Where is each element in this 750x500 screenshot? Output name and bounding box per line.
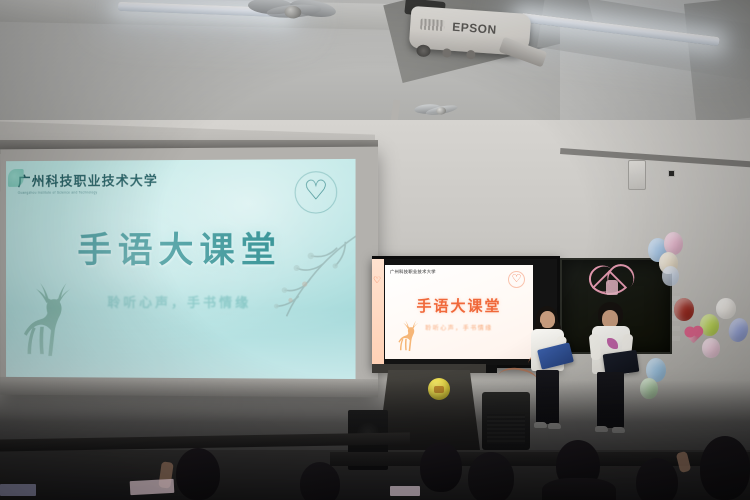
heart-with-hand-sign-icon xyxy=(590,270,630,304)
audience-head xyxy=(700,436,750,500)
heart-outline-icon xyxy=(295,171,338,214)
audience-head xyxy=(420,442,462,492)
tv-slide-institution-name: 广州科技职业技术大学 xyxy=(390,269,436,275)
balloon-red xyxy=(674,298,694,321)
hand-sign-shape xyxy=(606,280,618,295)
classroom-photo-scene: EPSON 广州科技职业技术大学 Guangzhou Institute of … xyxy=(0,0,750,500)
audience-shoulders xyxy=(542,478,616,500)
fan-hub xyxy=(436,107,446,115)
projector-brand-label: EPSON xyxy=(452,20,497,37)
slide-institution-name-en: Guangzhou Institute of Science and Techn… xyxy=(18,190,158,195)
desk-paper xyxy=(390,486,420,496)
balloon-white xyxy=(716,298,736,319)
projected-slide: 广州科技职业技术大学 Guangzhou Institute of Scienc… xyxy=(6,159,355,379)
audience-head xyxy=(176,448,220,500)
slide-institution-logo: 广州科技职业技术大学 Guangzhou Institute of Scienc… xyxy=(18,170,158,195)
heart-outline-icon xyxy=(508,271,525,288)
vent-icon xyxy=(420,19,445,32)
wall-socket-icon xyxy=(668,170,675,177)
audience-head xyxy=(468,452,514,500)
audience-head xyxy=(636,458,678,500)
tv-slide-title: 手语大课堂 xyxy=(385,295,533,316)
university-emblem-icon xyxy=(8,169,24,187)
wall-mounted-speaker xyxy=(628,160,646,190)
desk-paper xyxy=(130,479,175,495)
slide-institution-name-cn: 广州科技职业技术大学 xyxy=(18,170,158,190)
ceiling-edge-right xyxy=(684,0,750,123)
slide-mist-overlay xyxy=(6,308,355,379)
balloon-lightpink xyxy=(702,338,720,358)
desk-paper xyxy=(0,484,36,496)
audience-head xyxy=(300,462,340,500)
projection-screen: 广州科技职业技术大学 Guangzhou Institute of Scienc… xyxy=(0,147,378,398)
deer-silhouette-icon xyxy=(395,315,433,355)
tv-slide-left-border xyxy=(372,259,384,371)
balloon-paleblue xyxy=(662,266,679,286)
tv-projected-slide: 广州科技职业技术大学 手语大课堂 聆听心声，手书情缘 xyxy=(385,265,533,359)
